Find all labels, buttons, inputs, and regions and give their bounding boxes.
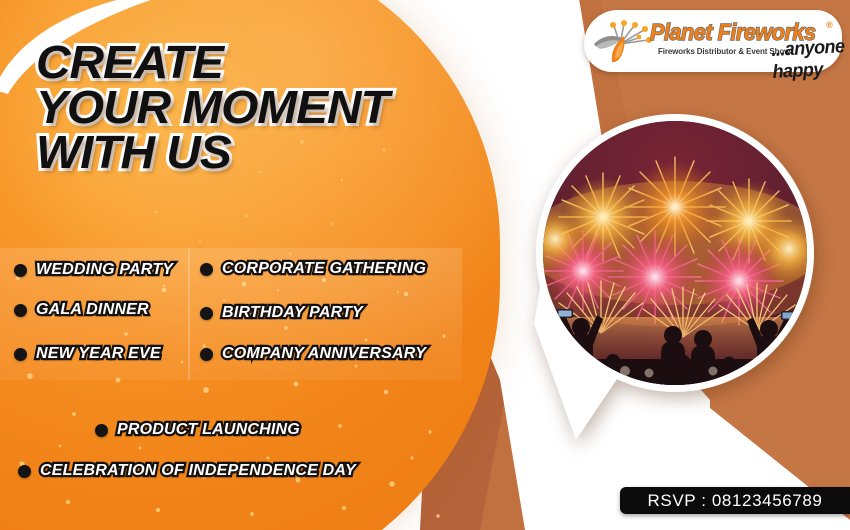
list-item: WEDDING PARTY bbox=[14, 261, 173, 279]
service-label: CORPORATE GATHERING bbox=[222, 260, 426, 278]
service-label: WEDDING PARTY bbox=[36, 261, 173, 279]
promotional-banner: CREATE YOUR MOMENT WITH US WEDDING PARTY… bbox=[0, 0, 850, 530]
list-item: COMPANY ANNIVERSARY bbox=[200, 345, 426, 363]
brand-logo: Planet Fireworks ® Fireworks Distributor… bbox=[584, 10, 842, 72]
fireworks-photo bbox=[543, 121, 807, 385]
bullet-dot-icon bbox=[95, 424, 108, 437]
rsvp-text: RSVP : 08123456789 bbox=[648, 491, 823, 511]
bullet-dot-icon bbox=[14, 264, 27, 277]
fireworks-photo-bubble bbox=[536, 114, 814, 392]
firework-burst-logo-icon bbox=[590, 14, 656, 66]
list-item: BIRTHDAY PARTY bbox=[200, 304, 363, 322]
headline-line-2: YOUR MOMENT bbox=[36, 85, 494, 130]
bullet-dot-icon bbox=[18, 465, 31, 478]
list-item: GALA DINNER bbox=[14, 301, 149, 319]
headline-line-1: CREATE bbox=[36, 40, 494, 85]
service-label: COMPANY ANNIVERSARY bbox=[222, 345, 426, 363]
bullet-dot-icon bbox=[200, 263, 213, 276]
headline-line-3: WITH US bbox=[36, 130, 494, 175]
service-label: GALA DINNER bbox=[36, 301, 149, 319]
service-list-column-divider bbox=[188, 248, 190, 380]
service-label: BIRTHDAY PARTY bbox=[222, 304, 363, 322]
rsvp-bar[interactable]: RSVP : 08123456789 bbox=[620, 487, 850, 514]
bullet-dot-icon bbox=[14, 348, 27, 361]
list-item: CELEBRATION OF INDEPENDENCE DAY bbox=[18, 462, 356, 480]
list-item: NEW YEAR EVE bbox=[14, 345, 161, 363]
page-title: CREATE YOUR MOMENT WITH US bbox=[36, 40, 494, 175]
service-label: CELEBRATION OF INDEPENDENCE DAY bbox=[40, 462, 356, 480]
bullet-dot-icon bbox=[200, 348, 213, 361]
list-item: PRODUCT LAUNCHING bbox=[95, 421, 300, 439]
list-item: CORPORATE GATHERING bbox=[200, 260, 426, 278]
bullet-dot-icon bbox=[200, 307, 213, 320]
service-label: PRODUCT LAUNCHING bbox=[117, 421, 300, 439]
bullet-dot-icon bbox=[14, 304, 27, 317]
registered-trademark-icon: ® bbox=[826, 20, 833, 30]
service-label: NEW YEAR EVE bbox=[36, 345, 161, 363]
logo-slogan: ...anyone happy bbox=[771, 36, 846, 84]
